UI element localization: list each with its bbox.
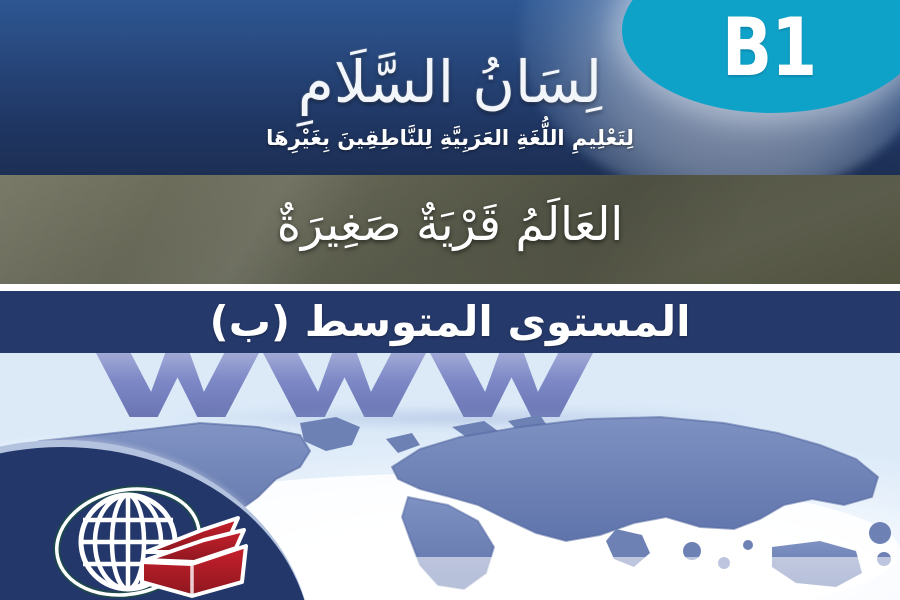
unit-title: العَالَمُ قَرْيَةٌ صَغِيرَةٌ — [0, 197, 900, 251]
book-cover: B1 لِسَانُ السَّلَامِ لِتَعْلِيمِ اللُّغ… — [0, 0, 900, 600]
book-subtitle: لِتَعْلِيمِ اللُّغَةِ العَرَبِيَّةِ لِلن… — [0, 126, 900, 150]
level-band: المستوى المتوسط (ب) — [0, 291, 900, 353]
level-title: المستوى المتوسط (ب) — [210, 301, 691, 343]
separator-strip — [0, 284, 900, 291]
header-band: B1 لِسَانُ السَّلَامِ لِتَعْلِيمِ اللُّغ… — [0, 0, 900, 175]
page-title: لِسَانُ السَّلَامِ — [0, 48, 900, 116]
brand-globe-book-logo — [42, 478, 257, 600]
unit-band: العَالَمُ قَرْيَةٌ صَغِيرَةٌ — [0, 175, 900, 284]
